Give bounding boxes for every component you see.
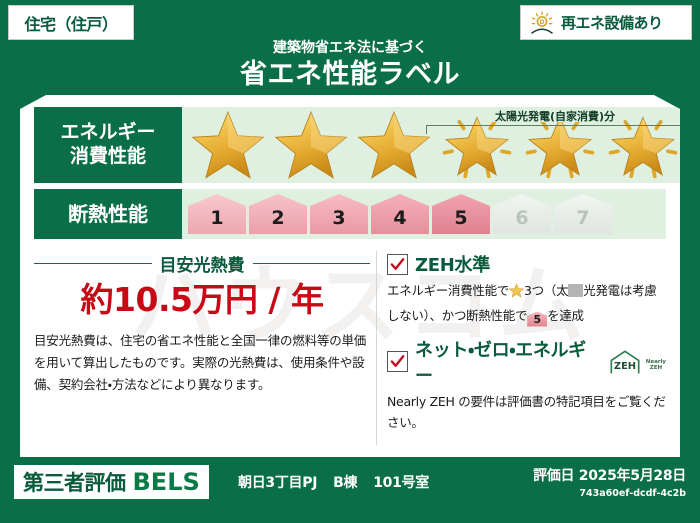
inline-insulation-grade-badge: 5 (527, 312, 547, 327)
utility-cost-heading-label: 目安光熱費 (160, 251, 245, 276)
energy-performance-label-line1: エネルギー (60, 121, 155, 145)
energy-performance-label-line2: 消費性能 (70, 145, 146, 169)
section-divider (376, 251, 377, 445)
energy-star-3 (352, 107, 435, 183)
svg-text:ZEH: ZEH (614, 360, 636, 371)
star-icon (509, 283, 524, 305)
label-footer: 第三者評価 BELS 朝日3丁目PJ B棟 101号室 評価日 2025年5月2… (0, 457, 700, 523)
property-room: 101号室 (373, 472, 429, 492)
insulation-grade-1-value: 1 (210, 207, 223, 229)
bels-jp-label: 第三者評価 (23, 467, 126, 497)
zeh-logo-caption: Nearly ZEH (646, 359, 666, 375)
bels-certification-box: 第三者評価 BELS (14, 465, 209, 499)
insulation-grade-2: 2 (249, 194, 307, 234)
bels-en-label: BELS (133, 468, 200, 496)
redacted-char-icon (568, 284, 583, 297)
zeh-standard-title: ZEH水準 (415, 251, 490, 277)
heading-rule-right (253, 263, 371, 265)
evaluation-date: 評価日 2025年5月28日 (533, 465, 686, 485)
evaluation-date-label: 評価日 (533, 468, 574, 484)
zeh-section: ZEH水準 エネルギー消費性能で3つ（太光発電は考慮しない）、かつ断熱性能で5を… (385, 247, 666, 449)
bels-energy-label: 住宅（住戸） D 再エネ設備あり 建築物省エネ法に基づ (0, 0, 700, 523)
zeh-house-icon: ZEH Nearly ZEH (606, 349, 666, 375)
insulation-performance-value: 1 2 3 4 5 (182, 189, 666, 239)
zeh-standard-checkbox[interactable] (387, 254, 408, 275)
insulation-grade-6-value: 6 (515, 207, 528, 229)
label-headline: 建築物省エネ法に基づく 省エネ性能ラベル (0, 40, 700, 92)
check-icon (390, 354, 405, 369)
performance-section: エネルギー 消費性能 太陽光発電(自家消費)分 (34, 107, 666, 245)
insulation-grade-1: 1 (188, 194, 246, 234)
check-icon (390, 257, 405, 272)
utility-cost-heading: 目安光熱費 (34, 251, 370, 276)
insulation-grade-5: 5 (432, 194, 490, 234)
insulation-grade-3: 3 (310, 194, 368, 234)
property-building: B棟 (333, 472, 357, 492)
energy-star-1 (186, 107, 269, 183)
utility-cost-section: 目安光熱費 約10.5万円 / 年 目安光熱費は、住宅の省エネ性能と全国一律の燃… (34, 247, 376, 449)
energy-star-5-solar (518, 107, 601, 183)
energy-performance-label: エネルギー 消費性能 (34, 107, 182, 183)
insulation-grade-2-value: 2 (271, 207, 284, 229)
insulation-grade-6: 6 (493, 194, 551, 234)
zeh-logo-caption-line1: Nearly (646, 359, 666, 365)
energy-performance-row: エネルギー 消費性能 太陽光発電(自家消費)分 (34, 107, 666, 183)
headline-title: 省エネ性能ラベル (0, 58, 700, 92)
insulation-performance-label-text: 断熱性能 (68, 202, 148, 227)
insulation-grade-4-value: 4 (393, 207, 406, 229)
insulation-grade-5-value: 5 (454, 207, 467, 229)
insulation-grade-7-value: 7 (576, 207, 589, 229)
renewable-energy-badge: D 再エネ設備あり (520, 5, 692, 40)
utility-cost-value: 約10.5万円 / 年 (34, 282, 370, 318)
net-zero-energy-item: ネット・ゼロ・エネルギー ZEH Nearly ZEH (387, 336, 666, 434)
net-zero-energy-body: Nearly ZEH の要件は評価書の特記項目をご覧ください。 (387, 391, 666, 434)
zeh-body-text-2: 3つ（太 (524, 283, 568, 298)
insulation-performance-row: 断熱性能 1 2 3 4 (34, 189, 666, 239)
zeh-standard-item: ZEH水準 エネルギー消費性能で3つ（太光発電は考慮しない）、かつ断熱性能で5を… (387, 251, 666, 327)
sun-icon: D (529, 11, 555, 35)
house-type-tag: 住宅（住戸） (8, 5, 134, 40)
heading-rule-left (34, 263, 152, 265)
evaluation-date-block: 評価日 2025年5月28日 743a60ef-dcdf-4c2b (533, 465, 686, 499)
insulation-grade-4: 4 (371, 194, 429, 234)
net-zero-energy-checkbox[interactable] (387, 351, 408, 372)
house-type-tag-label: 住宅（住戸） (24, 11, 117, 35)
zeh-standard-body: エネルギー消費性能で3つ（太光発電は考慮しない）、かつ断熱性能で5を達成 (387, 280, 666, 327)
evaluation-date-value: 2025年5月28日 (579, 468, 686, 484)
insulation-grade-7: 7 (554, 194, 612, 234)
utility-cost-note: 目安光熱費は、住宅の省エネ性能と全国一律の燃料等の単価を用いて算出したものです。… (34, 330, 370, 396)
energy-star-6-solar (601, 107, 684, 183)
document-id: 743a60ef-dcdf-4c2b (533, 488, 686, 499)
zeh-body-text-4: を達成 (547, 308, 584, 323)
insulation-grade-scale: 1 2 3 4 5 (182, 194, 612, 234)
energy-star-rating (182, 107, 684, 183)
insulation-performance-label: 断熱性能 (34, 189, 182, 239)
insulation-grade-3-value: 3 (332, 207, 345, 229)
zeh-standard-header: ZEH水準 (387, 251, 666, 277)
zeh-body-text-1: エネルギー消費性能で (387, 283, 509, 298)
lower-section: 目安光熱費 約10.5万円 / 年 目安光熱費は、住宅の省エネ性能と全国一律の燃… (34, 247, 666, 449)
energy-star-4-solar (435, 107, 518, 183)
energy-star-2 (269, 107, 352, 183)
label-body-card: ハウスコム エネルギー 消費性能 太陽光発電(自家消費)分 (20, 95, 680, 457)
headline-subtitle: 建築物省エネ法に基づく (0, 40, 700, 57)
zeh-logo-caption-line2: ZEH (650, 365, 662, 371)
net-zero-energy-header: ネット・ゼロ・エネルギー ZEH Nearly ZEH (387, 336, 666, 388)
svg-text:D: D (540, 19, 545, 26)
energy-performance-value: 太陽光発電(自家消費)分 (182, 107, 684, 183)
net-zero-energy-title: ネット・ゼロ・エネルギー (415, 336, 599, 388)
property-address: 朝日3丁目PJ B棟 101号室 (238, 472, 429, 492)
renewable-energy-badge-label: 再エネ設備あり (561, 12, 663, 33)
property-project: 朝日3丁目PJ (238, 472, 317, 492)
